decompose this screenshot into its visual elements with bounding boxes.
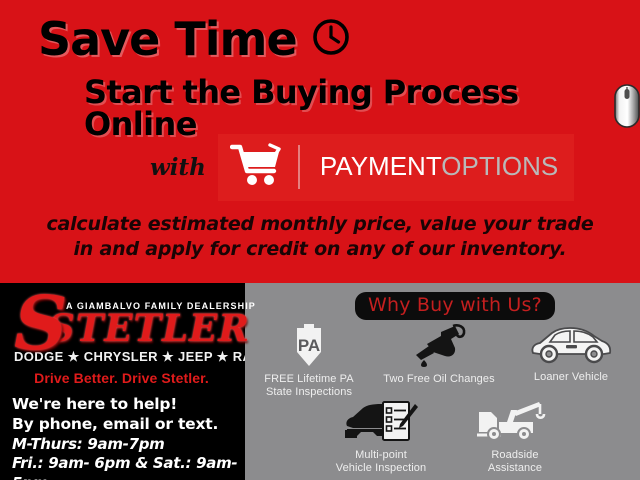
benefit-pa-inspections: PA FREE Lifetime PA State Inspections [250, 322, 368, 399]
benefit-roadside-caption-2: Assistance [488, 462, 542, 474]
promo-tagline: calculate estimated monthly price, value… [0, 212, 640, 262]
tow-truck-icon [477, 398, 553, 444]
dealer-slogan: Drive Better. Drive Stetler. [14, 370, 229, 386]
contact-hours-weekday: M-Thurs: 9am-7pm [12, 435, 245, 455]
benefit-loaner-caption: Loaner Vehicle [534, 371, 608, 384]
benefit-oil-changes: Two Free Oil Changes [380, 322, 498, 386]
benefit-roadside-assistance: Roadside Assistance [456, 398, 574, 475]
lockup-divider [298, 145, 300, 189]
inspection-checklist-icon [343, 398, 419, 444]
pa-keystone-icon: PA [286, 322, 332, 368]
benefit-pa-caption-2: State Inspections [266, 386, 352, 398]
benefit-roadside-caption-1: Roadside [491, 449, 538, 461]
tagline-line-2: in and apply for credit on any of our in… [0, 237, 640, 262]
payment-options-badge: PAYMENTOPTIONS [218, 134, 574, 201]
benefit-oil-caption: Two Free Oil Changes [383, 373, 494, 386]
clock-icon [311, 17, 351, 62]
headline-start-buying: Start the Buying Process Online [84, 76, 640, 140]
benefit-roadside-caption: Roadside Assistance [488, 449, 542, 475]
oil-can-icon [411, 322, 467, 368]
headline-start-buying-text: Start the Buying Process Online [84, 76, 604, 140]
dealer-monogram: S [14, 287, 67, 361]
dealer-family-tagline: A GIAMBALVO FAMILY DEALERSHIP [66, 301, 256, 311]
dealer-logo: S A GIAMBALVO FAMILY DEALERSHIP STETLER … [0, 283, 245, 383]
tagline-line-1: calculate estimated monthly price, value… [0, 212, 640, 237]
wordmark-payment: PAYMENT [320, 151, 441, 181]
svg-text:PA: PA [298, 336, 320, 355]
benefit-multipoint-caption-2: Vehicle Inspection [336, 462, 426, 474]
payment-options-lockup: with PAYMENTOPTIONS [150, 134, 574, 201]
advertisement-banner: Save Time Start the Buying Process Onlin… [0, 0, 640, 480]
payment-options-wordmark: PAYMENTOPTIONS [320, 151, 558, 182]
car-icon [528, 320, 614, 366]
contact-block: We're here to help! By phone, email or t… [12, 395, 245, 480]
benefit-multipoint-inspection: Multi-point Vehicle Inspection [322, 398, 440, 475]
headline-save-time: Save Time [38, 16, 351, 62]
promo-banner: Save Time Start the Buying Process Onlin… [0, 0, 640, 283]
with-label: with [150, 154, 206, 181]
benefit-loaner-vehicle: Loaner Vehicle [512, 320, 630, 384]
contact-hours-weekend: Fri.: 9am- 6pm & Sat.: 9am-5pm [12, 454, 245, 480]
headline-save-time-text: Save Time [38, 16, 297, 62]
wordmark-options: OPTIONS [441, 151, 558, 181]
why-buy-heading: Why Buy with Us? [355, 292, 555, 320]
why-buy-heading-text: Why Buy with Us? [368, 294, 542, 316]
benefit-pa-caption: FREE Lifetime PA State Inspections [264, 373, 353, 399]
dealer-name: STETLER [48, 310, 250, 347]
contact-line-1: We're here to help! [12, 395, 245, 415]
benefit-multipoint-caption: Multi-point Vehicle Inspection [336, 449, 426, 475]
mouse-icon [614, 84, 640, 133]
shopping-cart-icon [230, 141, 282, 192]
benefit-pa-caption-1: FREE Lifetime PA [264, 373, 353, 385]
contact-line-2: By phone, email or text. [12, 415, 245, 435]
benefit-multipoint-caption-1: Multi-point [355, 449, 407, 461]
